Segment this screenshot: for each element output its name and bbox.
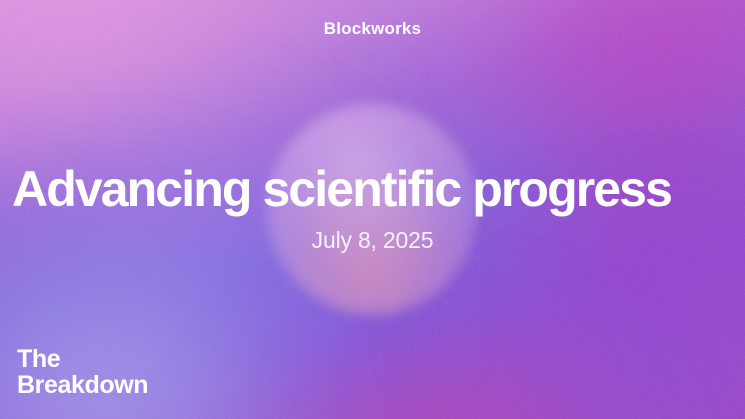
episode-headline: Advancing scientific progress [12,160,736,218]
cover-content: Blockworks Advancing scientific progress… [0,0,745,419]
show-title-line-2: Breakdown [17,372,148,398]
episode-date: July 8, 2025 [0,227,745,254]
blockworks-wordmark: Blockworks [0,19,745,39]
show-title-lockup: The Breakdown [17,346,148,398]
podcast-cover-art: Blockworks Advancing scientific progress… [0,0,745,419]
show-title-line-1: The [17,346,148,372]
